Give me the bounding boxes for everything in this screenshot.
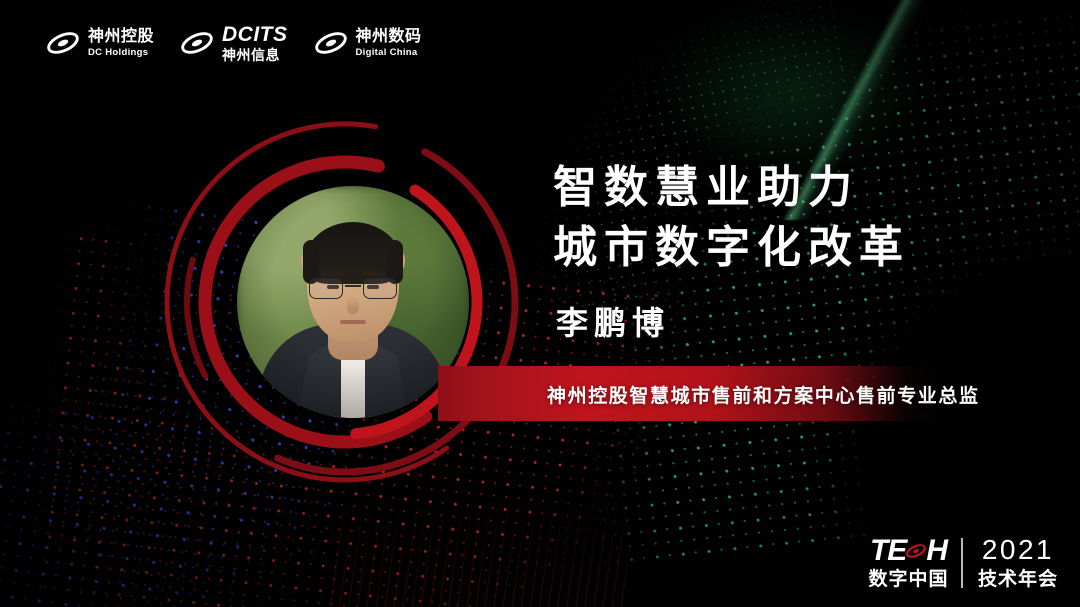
logo-digital-china: 神州数码 Digital China — [314, 29, 448, 58]
speaker-photo-inner — [237, 186, 469, 418]
logo-digital-china-text: 神州数码 Digital China — [356, 29, 422, 58]
event-subtitle: 技术年会 — [978, 570, 1058, 589]
event-brand-lockup: TE H 数字中国 2021 技术年会 — [868, 536, 1058, 589]
speaker-photo — [237, 186, 469, 418]
event-tech-part-1: TE — [870, 536, 906, 566]
title-line-1: 智数慧业助力 — [553, 158, 910, 218]
logo-dc-holdings-en: DC Holdings — [88, 48, 154, 58]
logo-dcits-cn: 神州信息 — [222, 48, 288, 62]
logo-dcits-text: DCITS 神州信息 — [222, 24, 288, 62]
logo-dc-holdings-cn: 神州控股 — [88, 29, 154, 45]
dc-swoosh-icon — [46, 29, 80, 57]
speaker-role: 神州控股智慧城市售前和方案中心售前专业总监 — [547, 381, 980, 408]
photo-vignette — [237, 186, 469, 418]
event-lockup-divider — [961, 538, 963, 588]
slide-canvas: 神州控股 DC Holdings DCITS 神州信息 神州数码 — [0, 0, 1080, 607]
event-brand-left: TE H 数字中国 — [868, 536, 961, 589]
event-brand-cn: 数字中国 — [868, 570, 948, 589]
logo-dc-holdings: 神州控股 DC Holdings — [46, 29, 180, 58]
dc-swoosh-icon — [314, 29, 348, 57]
event-year: 2021 — [982, 536, 1054, 564]
event-tech-wordmark: TE H — [870, 536, 947, 566]
dc-swoosh-icon — [180, 29, 214, 57]
logo-digital-china-en: Digital China — [356, 48, 422, 58]
logo-dcits-wordmark: DCITS — [222, 24, 288, 45]
speaker-name: 李鹏博 — [556, 298, 670, 344]
logo-dc-holdings-text: 神州控股 DC Holdings — [88, 29, 154, 58]
logo-dcits: DCITS 神州信息 — [180, 24, 314, 62]
presentation-title: 智数慧业助力 城市数字化改革 — [553, 158, 910, 278]
logo-digital-china-cn: 神州数码 — [356, 29, 422, 45]
red-ray-streaks — [330, 477, 630, 607]
dc-swoosh-icon — [905, 541, 927, 561]
event-tech-part-2: H — [926, 536, 947, 566]
event-brand-right: 2021 技术年会 — [963, 536, 1058, 589]
title-line-2: 城市数字化改革 — [553, 218, 910, 278]
brand-logo-bar: 神州控股 DC Holdings DCITS 神州信息 神州数码 — [46, 24, 448, 62]
